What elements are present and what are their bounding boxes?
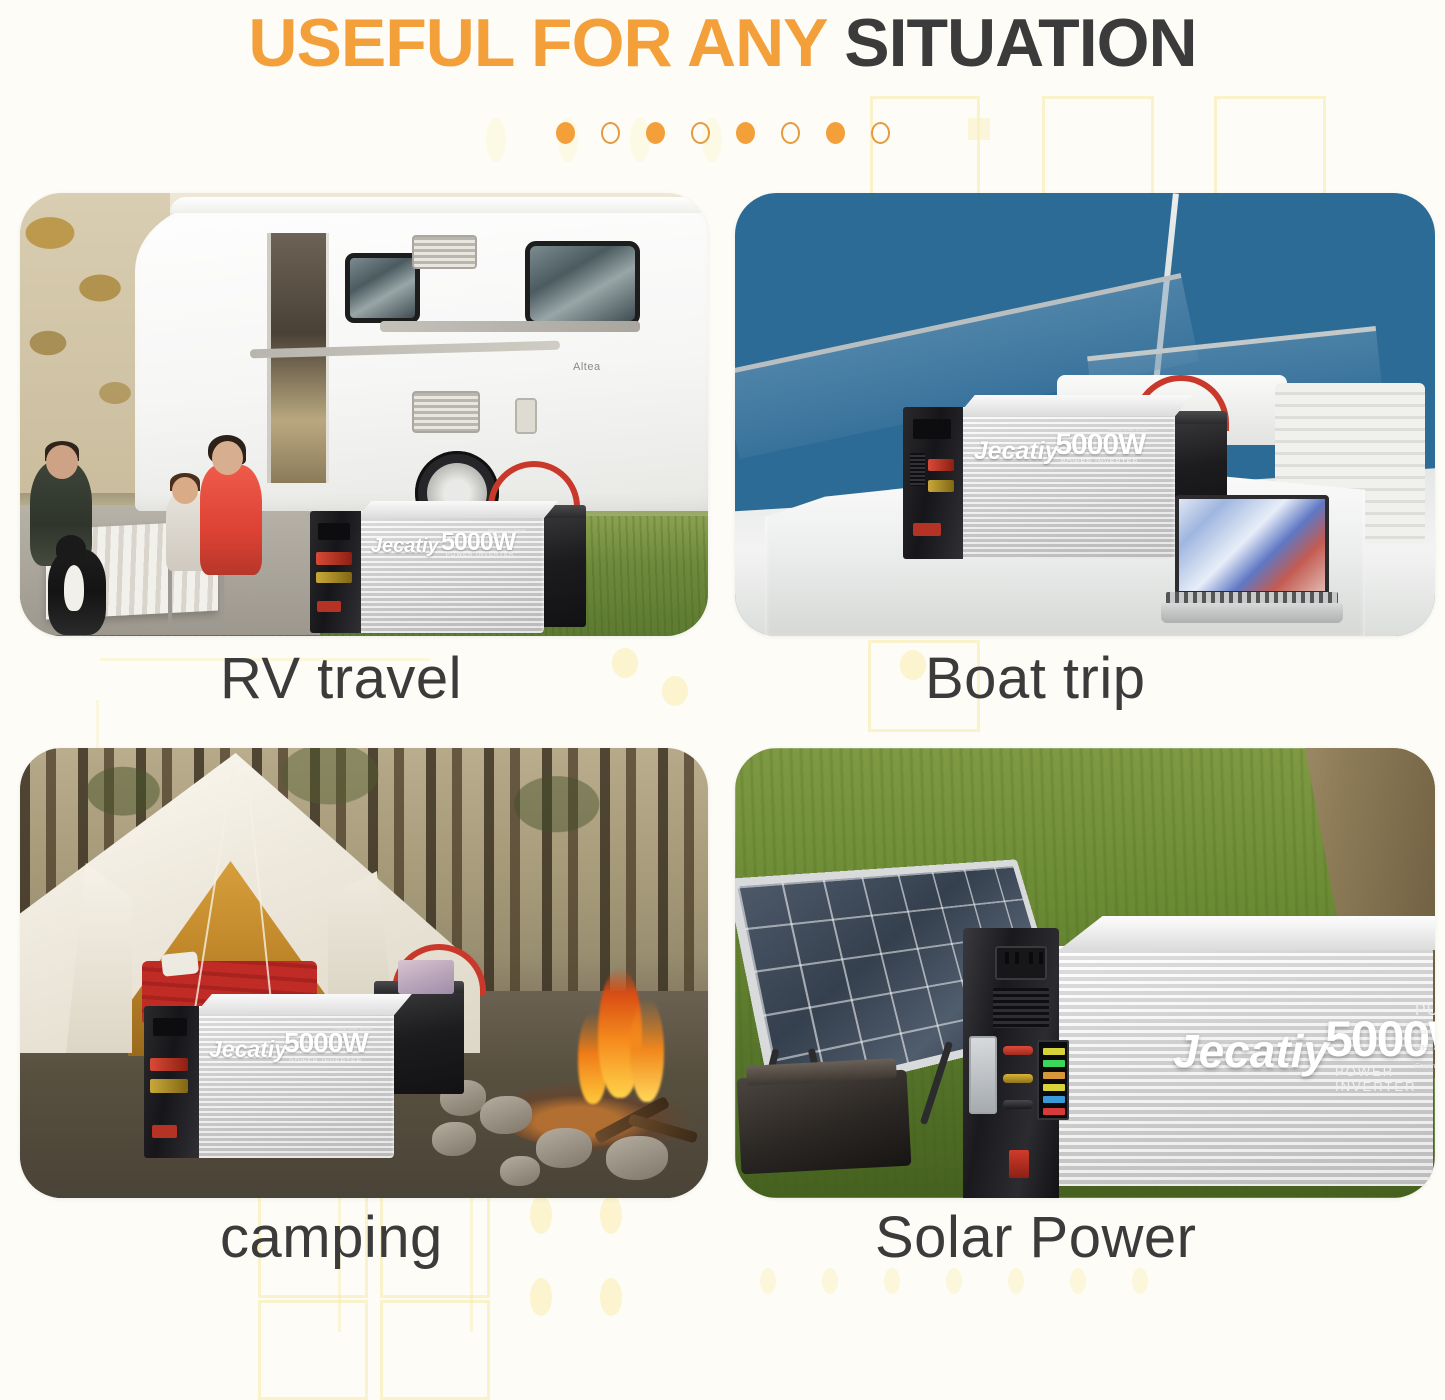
watermark-rect: [1214, 96, 1326, 204]
title-dark-text: SITUATION: [844, 5, 1196, 81]
power-inverter-solar: Jecatiy 5000W POWER INVERTER PURE SINE W…: [963, 946, 1433, 1198]
inverter-power-switch: [913, 523, 942, 537]
use-case-grid: Altea: [20, 193, 1420, 1218]
dot-hollow: [691, 122, 710, 144]
watermark-dot: [1070, 1268, 1086, 1294]
caravan-stripe: [380, 321, 640, 332]
power-inverter-rv: Jecatiy 5000W POWER INVERTER Input: DC24…: [310, 511, 544, 633]
led-segment: [1043, 1072, 1065, 1079]
inverter-spec-line-1: Input: DC24V Output: AC120V: [1415, 1026, 1435, 1039]
dot-filled: [736, 122, 755, 144]
person-woman: [200, 465, 262, 575]
dog-head: [56, 535, 86, 563]
inverter-top-surface: [1059, 916, 1435, 950]
inverter-power-switch: [317, 601, 341, 612]
outlet-slot: [1039, 952, 1043, 964]
outlet-slot: [1029, 952, 1033, 964]
led-segment: [1043, 1048, 1065, 1055]
fire-ring-rock: [536, 1128, 592, 1168]
watermark-dot: [530, 1278, 552, 1316]
pure-sine-wave-label: PURE SINE WAVE: [1415, 1002, 1435, 1020]
inverter-spec-line-3: Continuous Power 5000W/10000W: [1415, 1060, 1435, 1073]
photo-rv-travel: Altea: [20, 193, 708, 636]
inverter-front-panel: [310, 511, 361, 633]
inverter-ground-terminal: [150, 1079, 189, 1093]
decorative-dot-row: [0, 122, 1445, 144]
panel-caption-rv-travel: RV travel: [20, 645, 708, 712]
inverter-front-panel: [144, 1006, 199, 1158]
caravan-roof: [170, 197, 708, 213]
caravan-model-badge: Altea: [573, 361, 601, 373]
inverter-ground-terminal: [316, 572, 352, 583]
power-inverter-camping: Jecatiy 5000W POWER INVERTER PURE SINE W…: [144, 1006, 394, 1158]
inverter-positive-terminal: [316, 552, 352, 564]
fire-ring-rock: [500, 1156, 540, 1186]
laptop-base: [1161, 603, 1343, 623]
tent-pillow: [161, 951, 199, 977]
inverter-spec-label: PURE SINE WAVE: [334, 1026, 389, 1033]
inverter-top-surface: [194, 994, 412, 1015]
laptop: [1175, 495, 1329, 623]
caravan-vent: [412, 235, 477, 269]
watermark-dot: [600, 1278, 622, 1316]
inverter-brand-label: Jecatiy: [1173, 1024, 1329, 1078]
dot-filled: [556, 122, 575, 144]
inverter-outlet: [318, 523, 350, 540]
inverter-ground-terminal: [928, 480, 954, 492]
inverter-subtitle-label: POWER INVERTER: [1061, 459, 1139, 466]
watermark-rect: [1042, 96, 1154, 204]
outlet-slot: [1005, 952, 1009, 964]
fire-ring-rock: [432, 1122, 476, 1156]
dot-filled: [826, 122, 845, 144]
watermark-rect: [380, 1300, 490, 1400]
inverter-cooling-vent: [993, 988, 1049, 1028]
fire-ring-rock: [480, 1096, 532, 1134]
panel-camping: Jecatiy 5000W POWER INVERTER PURE SINE W…: [20, 748, 708, 1198]
dot-hollow: [601, 122, 620, 144]
inverter-positive-terminal: [1003, 1046, 1033, 1055]
caravan-door: [267, 233, 329, 483]
panel-caption-solar-power: Solar Power: [735, 1204, 1435, 1271]
person-man-head: [46, 445, 78, 479]
panel-caption-camping: camping: [20, 1204, 708, 1271]
inverter-spec-line-2: 60HZ AC Output 2.5A: [1415, 1042, 1435, 1055]
person-child-head: [172, 477, 198, 504]
inverter-brand-label: Jecatiy: [974, 437, 1059, 466]
inverter-fuse-cover: [969, 1036, 997, 1114]
inverter-outlet: [913, 419, 951, 439]
inverter-positive-terminal: [928, 459, 954, 471]
inverter-spec-label: Input: DC24V Output: AC120V: [488, 527, 539, 539]
dot-hollow: [871, 122, 890, 144]
watermark-dot: [1132, 1268, 1148, 1294]
inverter-vent: [910, 453, 924, 486]
dot-hollow: [781, 122, 800, 144]
inverter-subtitle-label: POWER INVERTER: [446, 552, 515, 558]
inverter-brand-label: Jecatiy: [371, 535, 439, 558]
inverter-power-switch: [1009, 1150, 1029, 1178]
inverter-positive-terminal: [150, 1058, 189, 1072]
inverter-subtitle-label: POWER INVERTER: [289, 1058, 362, 1065]
watermark-rect: [870, 96, 980, 204]
inverter-ground-terminal: [1003, 1074, 1033, 1083]
inverter-spec-label: PURE SINE WAVE: [1110, 427, 1170, 434]
outlet-slot: [1015, 952, 1019, 964]
inverter-front-panel: [963, 928, 1059, 1198]
panel-solar-power: Jecatiy 5000W POWER INVERTER PURE SINE W…: [735, 748, 1435, 1198]
inverter-negative-terminal: [1003, 1100, 1033, 1109]
watermark-dot: [946, 1268, 962, 1294]
power-inverter-boat: Jecatiy 5000W POWER INVERTER PURE SINE W…: [903, 407, 1175, 559]
supply-pack: [398, 960, 454, 994]
campfire-flame: [630, 998, 664, 1102]
title-orange-text: USEFUL FOR ANY: [248, 5, 826, 81]
inverter-top-surface: [357, 501, 559, 518]
caravan-window: [345, 253, 420, 323]
inverter-housing: Jecatiy 5000W POWER INVERTER PURE SINE W…: [1043, 946, 1433, 1186]
panel-rv-travel: Altea: [20, 193, 708, 636]
watermark-dot: [822, 1268, 838, 1294]
watermark-rect: [258, 1300, 368, 1400]
equipment-case: [737, 1070, 912, 1175]
laptop-screen: [1175, 495, 1329, 595]
dog-chest: [64, 565, 84, 611]
caravan-window: [525, 241, 640, 326]
led-segment: [1043, 1084, 1065, 1091]
inverter-ac-outlet: [995, 946, 1047, 980]
watermark-dot: [884, 1268, 900, 1294]
led-segment: [1043, 1096, 1065, 1103]
inverter-led-display: [1037, 1040, 1069, 1120]
campfire: [564, 960, 684, 1120]
person-woman-head: [212, 441, 243, 475]
watermark-dot: [1008, 1268, 1024, 1294]
page-title: USEFUL FOR ANY SITUATION: [0, 0, 1445, 86]
panel-boat-trip: Jecatiy 5000W POWER INVERTER PURE SINE W…: [735, 193, 1435, 636]
caravan-service-hatch: [515, 398, 537, 434]
fire-ring-rock: [606, 1136, 668, 1180]
watermark-dot: [760, 1268, 776, 1294]
panel-caption-boat-trip: Boat trip: [735, 645, 1435, 712]
inverter-outlet: [153, 1018, 187, 1036]
led-segment: [1043, 1108, 1065, 1115]
photo-boat-trip: Jecatiy 5000W POWER INVERTER PURE SINE W…: [735, 193, 1435, 636]
dot-filled: [646, 122, 665, 144]
inverter-top-surface: [957, 395, 1192, 416]
inverter-front-panel: [903, 407, 963, 559]
led-segment: [1043, 1060, 1065, 1067]
inverter-power-switch: [152, 1125, 177, 1139]
inverter-brand-label: Jecatiy: [209, 1036, 287, 1063]
photo-camping: Jecatiy 5000W POWER INVERTER PURE SINE W…: [20, 748, 708, 1198]
photo-solar-power: Jecatiy 5000W POWER INVERTER PURE SINE W…: [735, 748, 1435, 1198]
caravan-vent: [412, 391, 480, 433]
